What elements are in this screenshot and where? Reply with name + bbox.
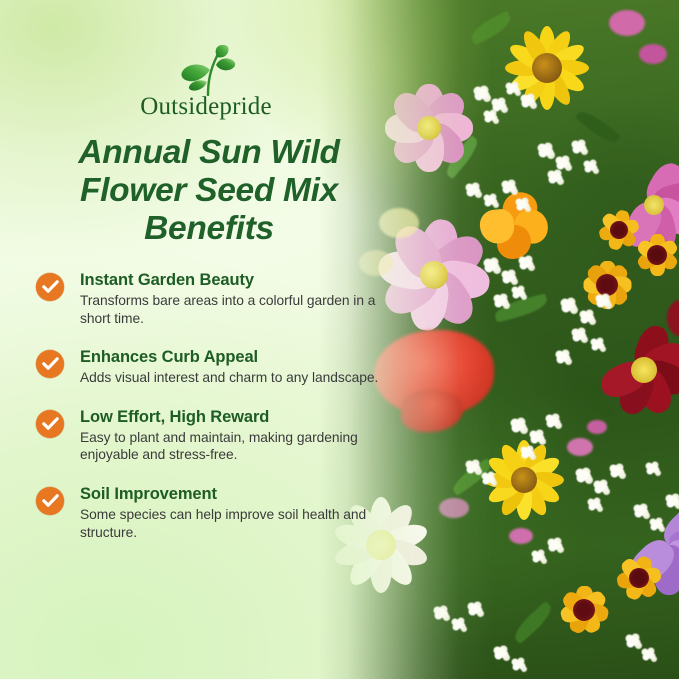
- benefit-body: Transforms bare areas into a colorful ga…: [80, 292, 388, 327]
- list-item: Instant Garden Beauty Transforms bare ar…: [36, 270, 388, 327]
- check-circle-icon: [36, 487, 64, 515]
- title-line-2: Flower Seed Mix: [36, 172, 382, 210]
- leaf-sprig-icon: [116, 44, 296, 96]
- benefit-heading: Soil Improvement: [80, 484, 388, 504]
- benefit-heading: Enhances Curb Appeal: [80, 347, 388, 367]
- benefit-body: Easy to plant and maintain, making garde…: [80, 429, 388, 464]
- flower-white-alyssum: [477, 88, 487, 98]
- list-item: Enhances Curb Appeal Adds visual interes…: [36, 347, 388, 387]
- page-title: Annual Sun Wild Flower Seed Mix Benefits: [36, 134, 382, 248]
- title-line-3: Benefits: [36, 210, 382, 248]
- brand-name: Outsidepride: [116, 94, 296, 119]
- check-circle-icon: [36, 350, 64, 378]
- benefit-heading: Low Effort, High Reward: [80, 407, 388, 427]
- benefit-body: Adds visual interest and charm to any la…: [80, 369, 388, 387]
- benefits-poster: Outsidepride Annual Sun Wild Flower Seed…: [0, 0, 679, 679]
- title-line-1: Annual Sun Wild: [36, 134, 382, 172]
- check-circle-icon: [36, 273, 64, 301]
- list-item: Low Effort, High Reward Easy to plant an…: [36, 407, 388, 464]
- brand-logo[interactable]: Outsidepride: [116, 44, 296, 124]
- list-item: Soil Improvement Some species can help i…: [36, 484, 388, 541]
- benefits-list: Instant Garden Beauty Transforms bare ar…: [36, 270, 388, 541]
- benefit-body: Some species can help improve soil healt…: [80, 506, 388, 541]
- check-circle-icon: [36, 410, 64, 438]
- benefit-heading: Instant Garden Beauty: [80, 270, 388, 290]
